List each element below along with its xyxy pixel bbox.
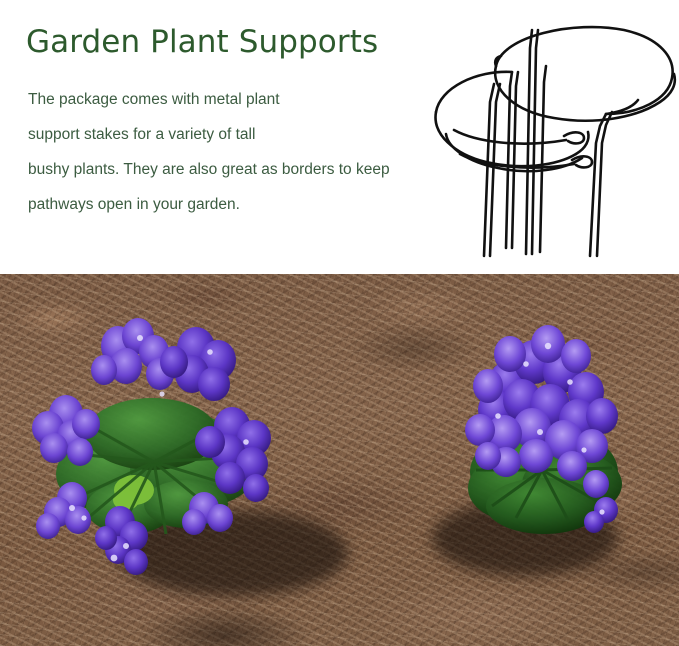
before-after-photo [0,274,679,646]
supported-plant [436,320,652,570]
sprawling-plant [14,322,300,588]
wire-plant-support-icon [424,8,679,264]
product-infographic: Garden Plant Supports The package comes … [0,0,679,646]
info-panel: Garden Plant Supports The package comes … [0,0,679,274]
page-title: Garden Plant Supports [26,23,378,61]
